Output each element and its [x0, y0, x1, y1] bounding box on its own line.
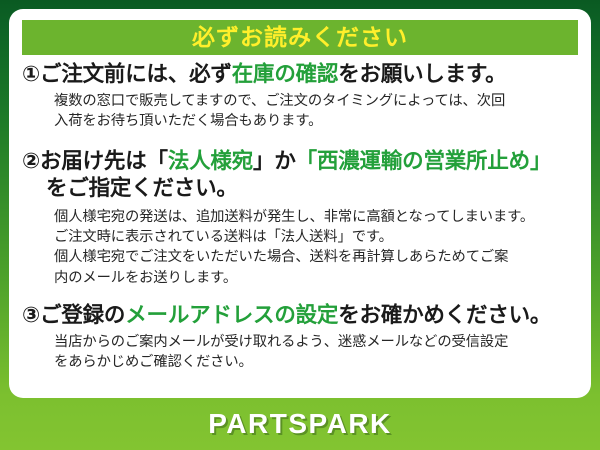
notice-item-1-heading-highlight: 在庫の確認	[232, 62, 339, 86]
notice-panel: 必ずお読みください ①ご注文前には、必ず在庫の確認をお願いします。 複数の窓口で…	[9, 9, 591, 398]
notice-card: 必ずお読みください ①ご注文前には、必ず在庫の確認をお願いします。 複数の窓口で…	[0, 0, 600, 450]
notice-item-2-marker: ②	[22, 149, 40, 173]
notice-item-2-heading-highlight: 法人様宛	[168, 149, 253, 173]
brand-name-text: PARTSPARK	[208, 410, 392, 438]
notice-item-3-heading-pre: ご登録の	[40, 303, 125, 327]
notice-item-2-heading-highlight2: 「西濃運輸の営業所止め」	[296, 149, 552, 173]
notice-item-1-heading-pre: ご注文前には、必ず	[40, 62, 232, 86]
notice-item-1-heading-post: をお願いします。	[338, 62, 506, 86]
notice-title-text: 必ずお読みください	[192, 26, 408, 49]
notice-item-1-marker: ①	[22, 62, 40, 86]
notice-list: ①ご注文前には、必ず在庫の確認をお願いします。 複数の窓口で販売してますので、ご…	[9, 61, 591, 373]
notice-item-1-heading: ①ご注文前には、必ず在庫の確認をお願いします。	[22, 61, 581, 88]
notice-item-3-heading: ③ご登録のメールアドレスの設定をお確かめください。	[22, 302, 581, 329]
notice-item-2-heading: ②お届け先は「法人様宛」か「西濃運輸の営業所止め」をご指定ください。	[22, 148, 581, 202]
notice-item-2-heading-mid: 」か	[253, 149, 296, 173]
notice-item-3: ③ご登録のメールアドレスの設定をお確かめください。 当店からのご案内メールが受け…	[9, 302, 591, 373]
notice-item-2-heading-pre: お届け先は「	[40, 149, 168, 173]
notice-item-1-body: 複数の窓口で販売してますので、ご注文のタイミングによっては、次回 入荷をお待ち頂…	[22, 91, 581, 132]
notice-title-banner: 必ずお読みください	[22, 20, 578, 55]
notice-item-3-marker: ③	[22, 303, 40, 327]
notice-item-2-heading-line2: をご指定ください。	[22, 175, 581, 202]
notice-item-3-heading-post: をお確かめください。	[338, 303, 551, 327]
footer-brand: PARTSPARK	[0, 398, 600, 450]
notice-item-3-heading-highlight: メールアドレスの設定	[125, 303, 338, 327]
notice-item-3-body: 当店からのご案内メールが受け取れるよう、迷惑メールなどの受信設定 をあらかじめご…	[22, 332, 581, 373]
notice-item-1: ①ご注文前には、必ず在庫の確認をお願いします。 複数の窓口で販売してますので、ご…	[9, 61, 591, 132]
notice-item-2: ②お届け先は「法人様宛」か「西濃運輸の営業所止め」をご指定ください。 個人様宅宛…	[9, 148, 591, 288]
notice-item-2-body: 個人様宅宛の発送は、追加送料が発生し、非常に高額となってしまいます。 ご注文時に…	[22, 207, 581, 288]
